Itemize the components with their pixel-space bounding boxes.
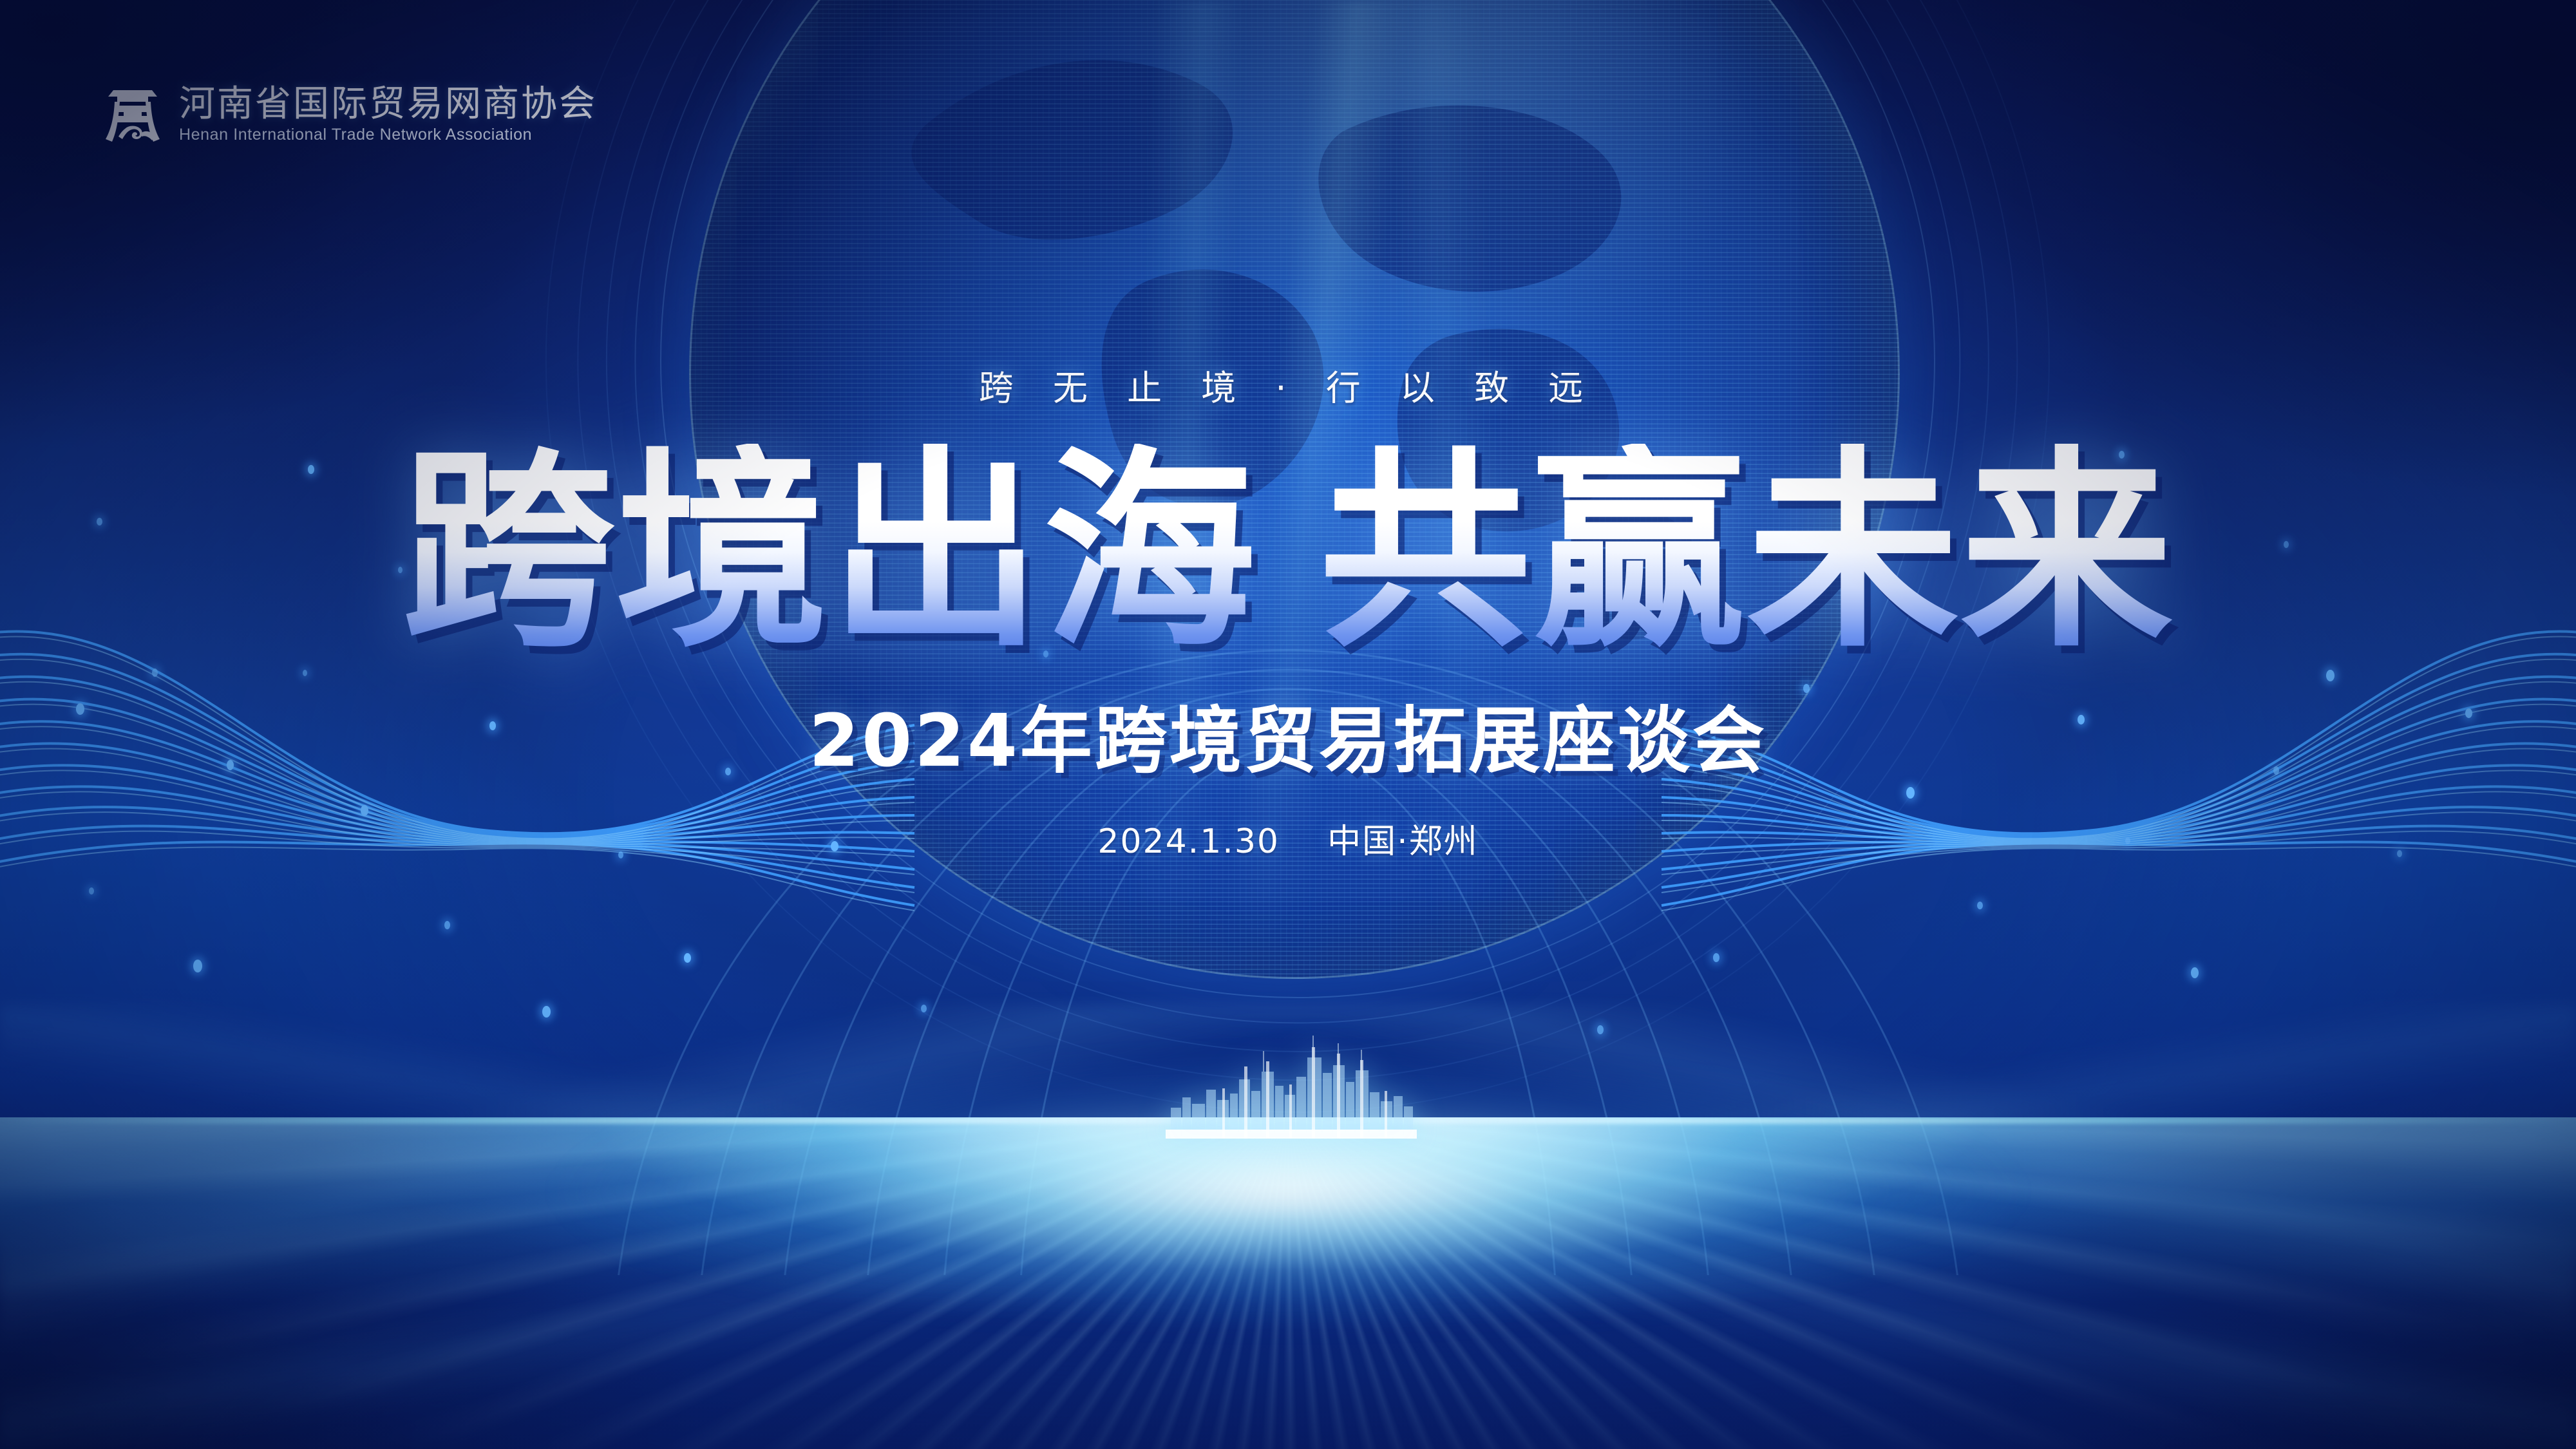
event-location: 中国·郑州	[1327, 822, 1479, 861]
hero-tagline: 跨 无 止 境 · 行 以 致 远	[979, 359, 1598, 410]
city-skyline-silhouette	[1166, 1010, 1417, 1139]
hero-headline: 跨境出海 共赢未来	[402, 444, 2174, 661]
event-date-location: 2024.1.30 中国·郑州	[1097, 814, 1478, 862]
poster-canvas: 河南省国际贸易网商协会 Henan International Trade Ne…	[0, 0, 2576, 1449]
event-date: 2024.1.30	[1097, 822, 1280, 861]
headline-part-2: 共赢未来	[1319, 444, 2174, 661]
event-subtitle: 2024年跨境贸易拓展座谈会	[809, 683, 1767, 787]
hero-text-block: 跨 无 止 境 · 行 以 致 远 跨境出海 共赢未来 2024年跨境贸易拓展座…	[0, 0, 2576, 862]
date-location-spacer	[1292, 822, 1316, 861]
headline-part-1: 跨境出海	[402, 444, 1257, 661]
